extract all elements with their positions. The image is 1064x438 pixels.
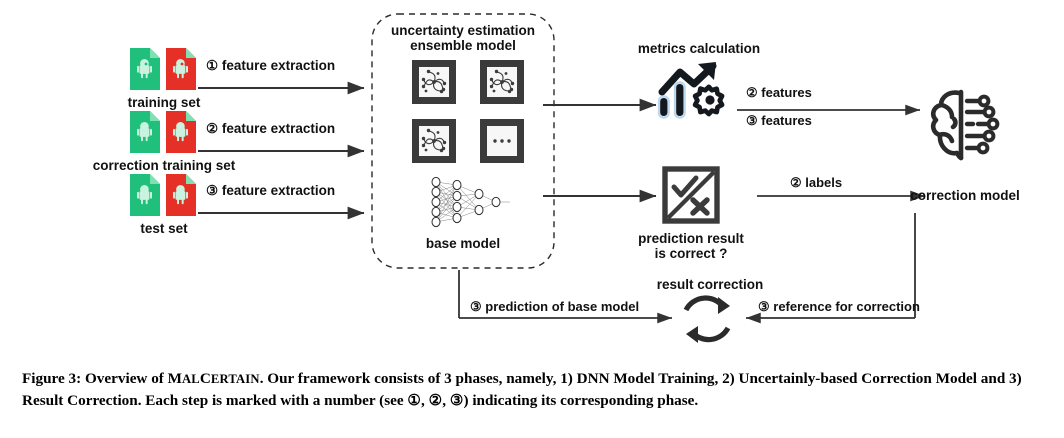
caption-smallcaps-c: C: [200, 370, 211, 387]
arrow-label-features-2: ② features: [746, 86, 876, 101]
correction-training-set-label: correction training set: [74, 158, 254, 173]
base-model-label: base model: [392, 236, 534, 251]
metrics-calculation-label: metrics calculation: [604, 41, 794, 56]
correction-model-label: correction model: [885, 188, 1045, 203]
prediction-check-label-line1: prediction result: [621, 231, 761, 246]
test-set-label: test set: [114, 221, 214, 236]
check-cross-icon: [662, 166, 720, 224]
caption-smallcaps-al: AL: [182, 372, 200, 386]
arrow-label-feature-extraction-3: ③ feature extraction: [206, 183, 356, 198]
chart-gear-icon: [656, 58, 738, 120]
ensemble-title-line2: ensemble model: [372, 38, 554, 53]
brain-circuit-icon: [923, 85, 1009, 165]
arrow-label-prediction-of-base-model: ③ prediction of base model: [470, 300, 680, 315]
training-set-icon: [128, 46, 200, 92]
ensemble-member-ellipsis: [480, 119, 524, 163]
prediction-check-label-line2: is correct ?: [621, 246, 761, 261]
figure-overview-malcertain: training set: [0, 0, 1064, 438]
caption-prefix: Figure 3: Overview of: [22, 370, 168, 387]
figure-caption: Figure 3: Overview of MALCERTAIN. Our fr…: [22, 368, 1044, 411]
arrow-label-feature-extraction-1: ① feature extraction: [206, 58, 356, 73]
arrow-label-reference-for-correction: ③ reference for correction: [758, 300, 978, 315]
ensemble-member-3: [412, 119, 456, 163]
ensemble-member-1: [412, 60, 456, 104]
arrow-label-features-3: ③ features: [746, 114, 876, 129]
training-set-label: training set: [104, 95, 224, 110]
ensemble-member-2: [480, 60, 524, 104]
arrow-label-feature-extraction-2: ② feature extraction: [206, 121, 356, 136]
result-correction-label: result correction: [640, 277, 780, 292]
ensemble-title-line1: uncertainty estimation: [372, 23, 554, 38]
base-model-icon: [424, 176, 520, 234]
refresh-cycle-icon: [674, 292, 742, 348]
caption-smallcaps-ertain: ERTAIN: [211, 372, 260, 386]
correction-training-set-icon: [128, 109, 200, 155]
caption-smallcaps-m: M: [168, 370, 182, 387]
test-set-icon: [128, 172, 200, 218]
